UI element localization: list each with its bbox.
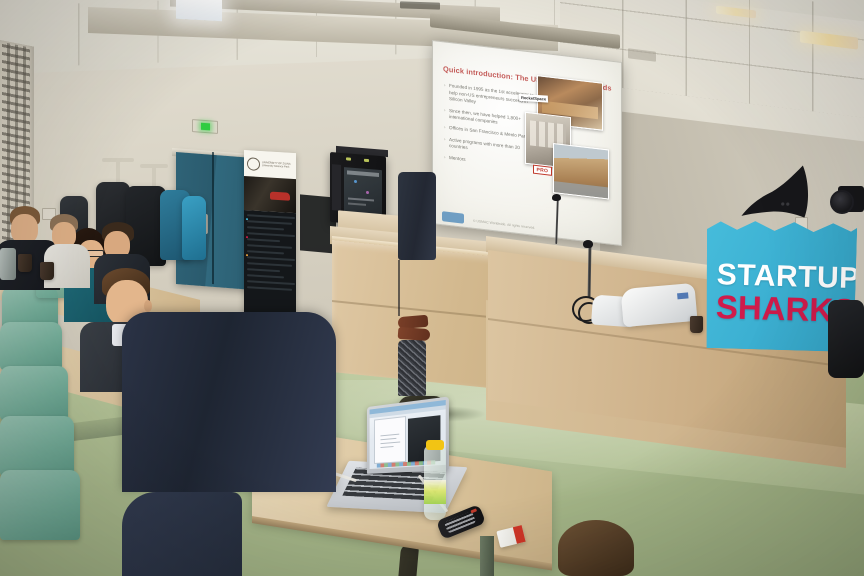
rollup-text-line [247, 262, 292, 267]
table-leg [480, 536, 494, 576]
university-seal-icon [247, 157, 260, 171]
presenter-trousers [398, 172, 436, 260]
document-text-line [380, 434, 399, 437]
coffee-cup [18, 254, 32, 272]
rollup-text-line [247, 274, 284, 279]
chair[interactable] [0, 322, 62, 370]
rollup-content [244, 210, 296, 325]
door-center-seam [212, 152, 214, 284]
plastic-bag [620, 283, 697, 327]
presenter [398, 172, 482, 420]
rollup-text-line [247, 232, 295, 237]
coat-rack-arm [102, 158, 134, 162]
presenter-shirt [398, 340, 426, 396]
audience-hair [558, 520, 634, 576]
attendee-shoulder [122, 492, 242, 576]
presenter-shoe-right [398, 327, 431, 341]
rollup-text-line [247, 220, 292, 225]
gooseneck-microphone-head [552, 194, 561, 201]
av-screen-dot [366, 191, 369, 194]
shark-fin-icon [735, 163, 833, 222]
rollup-text-line [247, 250, 284, 255]
exit-sign-light [201, 123, 210, 131]
remote-power-button[interactable] [470, 508, 477, 513]
presenter-leg-seam [398, 260, 400, 316]
av-panel-led [364, 159, 369, 162]
rollup-header: UNIVERSITY OF ZILINA University Science … [244, 150, 296, 179]
rollup-car-image [270, 192, 290, 201]
coat-rack-arm [140, 164, 168, 168]
audience-member-foreground-right [548, 520, 668, 576]
av-panel-led [346, 157, 351, 160]
foreground-attendee [122, 312, 352, 576]
exit-sign [192, 119, 218, 134]
rollup-text-line [247, 244, 292, 249]
audience-ear [144, 300, 152, 312]
chair[interactable] [0, 416, 74, 476]
bottle-label [424, 480, 446, 504]
rollup-photo [244, 176, 296, 213]
av-panel-side-strip [332, 164, 341, 211]
skylight [176, 0, 222, 21]
rollup-text-line [247, 238, 280, 242]
coffee-cup [40, 262, 54, 280]
ceiling-vent [400, 1, 440, 9]
bottle-cap [426, 440, 444, 450]
rollup-banner: UNIVERSITY OF ZILINA University Science … [244, 150, 296, 325]
av-screen-line [348, 202, 366, 205]
av-screen-titlebar [347, 170, 379, 177]
av-screen-line [348, 197, 374, 201]
rollup-text-line [247, 280, 295, 285]
coffee-cup [690, 316, 703, 333]
rollup-subtitle: University Science Park [262, 164, 291, 169]
camera-bag [828, 300, 864, 378]
water-bottle [0, 248, 16, 280]
gooseneck-microphone-head [583, 240, 593, 248]
rollup-text-line [247, 226, 284, 231]
chair[interactable] [0, 366, 68, 420]
screen-document-pane [375, 417, 405, 463]
rollup-text-line [247, 256, 295, 261]
attendee-jacket [122, 312, 336, 492]
av-screen-dot [354, 180, 357, 183]
document-text-line [380, 441, 400, 444]
bag-label [677, 292, 688, 299]
rollup-text-line [247, 214, 295, 219]
document-text-line [380, 446, 393, 448]
document-text-line [380, 438, 396, 441]
lecture-hall-photo: UNIVERSITY OF ZILINA University Science … [0, 0, 864, 576]
av-panel-screen[interactable] [344, 167, 382, 214]
rollup-text-line [247, 286, 292, 291]
chair[interactable] [0, 470, 80, 540]
coat-blue [182, 196, 206, 260]
slide-photo-street [553, 143, 609, 199]
rollup-text-line [247, 268, 280, 272]
